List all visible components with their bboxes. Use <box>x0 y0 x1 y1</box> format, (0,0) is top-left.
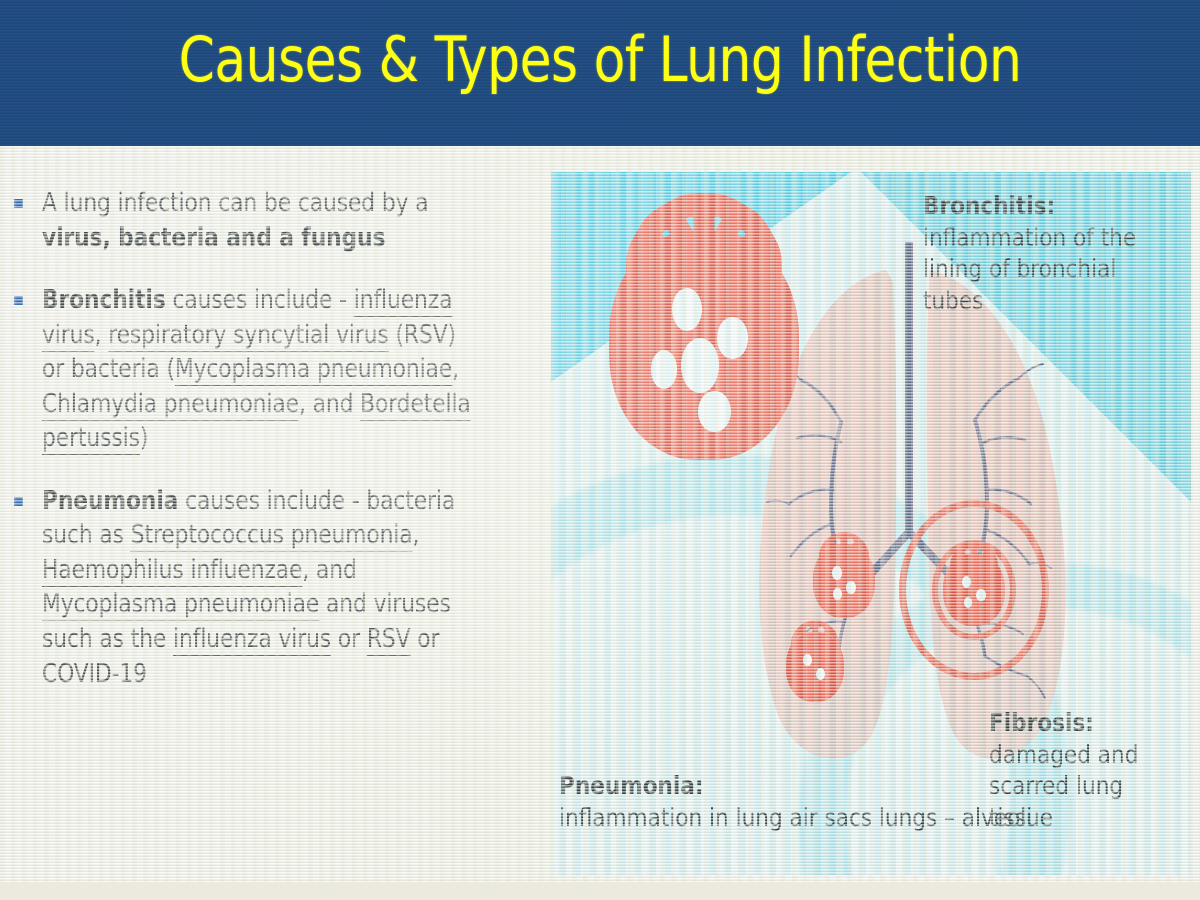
caption-desc: inflammation of the lining of bronchial … <box>923 222 1180 317</box>
bullet-segment: A lung infection can be caused by a <box>42 188 428 218</box>
bullet-segment: , <box>452 354 459 384</box>
list-item: A lung infection can be caused by a viru… <box>8 186 508 255</box>
bullet-segment-underline: RSV <box>367 624 411 656</box>
bullet-segment: , <box>413 520 420 550</box>
bullet-segment: , <box>95 320 109 350</box>
bullet-segment-underline: respiratory syncytial virus <box>108 320 388 352</box>
caption-title: Bronchitis: <box>923 190 1180 222</box>
caption-bronchitis: Bronchitis: inflammation of the lining o… <box>923 190 1180 316</box>
bullet-segment-bold: Bronchitis <box>42 285 166 315</box>
bullet-segment-underline: influenza virus <box>173 624 331 656</box>
square-bullet-icon <box>14 497 23 506</box>
bullet-segment-underline: Streptococcus pneumonia <box>131 520 413 552</box>
bullet-segment-bold: Pneumonia <box>42 486 178 516</box>
caption-fibrosis: Fibrosis: damaged and scarred lung tissu… <box>989 707 1183 833</box>
list-item: Bronchitis causes include - influenza vi… <box>8 283 508 456</box>
lung-infection-diagram: Bronchitis: inflammation of the lining o… <box>551 172 1191 875</box>
bullet-segment: ) <box>140 423 148 453</box>
list-item: Pneumonia causes include - bacteria such… <box>8 484 508 691</box>
bullet-segment: or <box>331 624 367 654</box>
bullet-segment-underline: Chlamydia pneumoniae <box>42 389 299 421</box>
bullet-segment-underline: Mycoplasma pneumoniae <box>42 589 319 621</box>
bullet-segment-bold: virus, bacteria and a fungus <box>42 223 385 253</box>
caption-pneumonia: Pneumonia: inflammation in lung air sacs… <box>559 770 1032 833</box>
bullet-segment: causes include - <box>166 285 354 315</box>
bullet-virus-bacteria-fungus: A lung infection can be caused by a viru… <box>42 186 485 255</box>
slide-root: Causes & Types of Lung Infection A lung … <box>0 0 1200 900</box>
caption-desc: inflammation in lung air sacs lungs – al… <box>559 802 1032 834</box>
slide-body: A lung infection can be caused by a viru… <box>0 146 1200 900</box>
bullet-segment: , and <box>302 555 356 585</box>
bullet-segment: , and <box>299 389 360 419</box>
caption-title: Fibrosis: <box>989 707 1183 739</box>
square-bullet-icon <box>14 296 23 305</box>
caption-desc: damaged and scarred lung tissue <box>989 739 1183 834</box>
square-bullet-icon <box>14 199 23 208</box>
page-title: Causes & Types of Lung Infection <box>42 27 1158 92</box>
bullet-bronchitis-causes: Bronchitis causes include - influenza vi… <box>42 283 485 456</box>
bullet-segment-underline: Haemophilus influenzae <box>42 555 302 587</box>
bullet-pneumonia-causes: Pneumonia causes include - bacteria such… <box>42 484 485 691</box>
bottom-edge-strip <box>0 882 1200 900</box>
bullet-list: A lung infection can be caused by a viru… <box>8 186 508 719</box>
bullet-segment-underline: Mycoplasma pneumoniae <box>175 354 452 386</box>
caption-title: Pneumonia: <box>559 770 1032 802</box>
slide-title-bar: Causes & Types of Lung Infection <box>0 0 1200 146</box>
